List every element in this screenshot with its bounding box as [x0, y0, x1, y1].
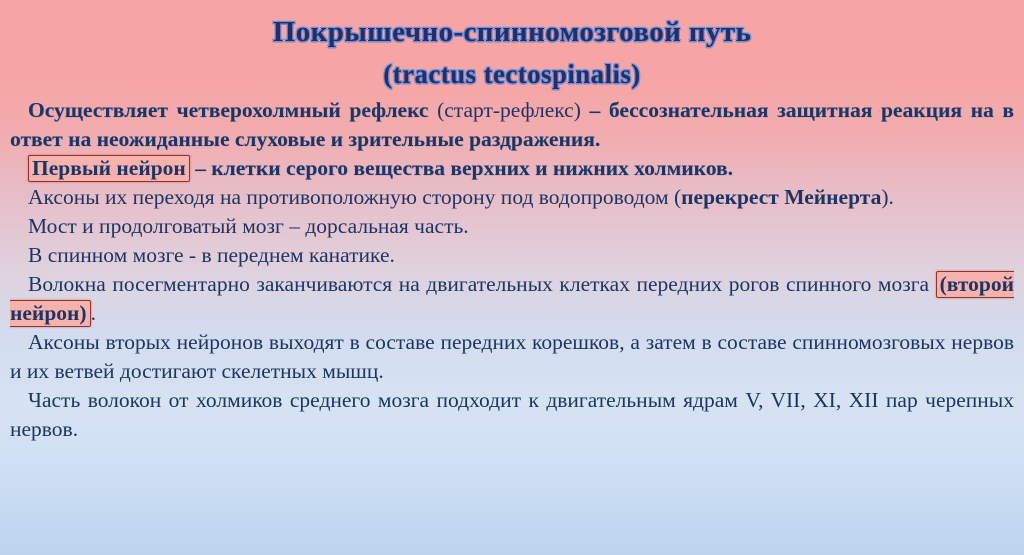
- paragraph-cranial-nerves: Часть волокон от холмиков среднего мозга…: [10, 386, 1014, 444]
- p3-regular-lead: Аксоны их переходя на противоположную ст…: [28, 185, 681, 209]
- p3-bold-meynert: перекрест Мейнерта: [681, 185, 881, 209]
- p6-regular-lead: Волокна посегментарно заканчиваются на д…: [28, 272, 936, 296]
- paragraph-anterior-roots: Аксоны вторых нейронов выходят в составе…: [10, 328, 1014, 386]
- paragraph-second-neuron: Волокна посегментарно заканчиваются на д…: [10, 270, 1014, 328]
- slide-title-block: Покрышечно-спинномозговой путь (tractus …: [0, 0, 1024, 94]
- p3-regular-tail: ).: [881, 185, 894, 209]
- p7-text: Аксоны вторых нейронов выходят в составе…: [10, 330, 1014, 383]
- paragraph-first-neuron: Первый нейрон – клетки серого вещества в…: [10, 154, 1014, 183]
- slide-title-primary: Покрышечно-спинномозговой путь: [0, 12, 1024, 52]
- paragraph-pons-medulla: Мост и продолговатый мозг – дорсальная ч…: [10, 212, 1014, 241]
- p4-text: Мост и продолговатый мозг – дорсальная ч…: [28, 214, 469, 238]
- paragraph-axon-decussation: Аксоны их переходя на противоположную ст…: [10, 183, 1014, 212]
- paragraph-reflex-definition: Осуществляет четверохолмный рефлекс (ста…: [10, 96, 1014, 154]
- p5-text: В спинном мозге - в переднем канатике.: [28, 243, 395, 267]
- slide-body: Осуществляет четверохолмный рефлекс (ста…: [0, 94, 1024, 444]
- highlight-first-neuron: Первый нейрон: [28, 155, 190, 182]
- p6-regular-tail: .: [91, 301, 96, 325]
- p1-regular-parenthetical: (старт-рефлекс): [428, 98, 589, 122]
- p8-text: Часть волокон от холмиков среднего мозга…: [10, 388, 1014, 441]
- slide-root: Покрышечно-спинномозговой путь (tractus …: [0, 0, 1024, 555]
- p1-bold-lead: Осуществляет четверохолмный рефлекс: [28, 98, 428, 122]
- p2-rest: – клетки серого вещества верхних и нижни…: [190, 156, 733, 180]
- slide-title-latin: (tractus tectospinalis): [0, 54, 1024, 94]
- paragraph-spinal-cord: В спинном мозге - в переднем канатике.: [10, 241, 1014, 270]
